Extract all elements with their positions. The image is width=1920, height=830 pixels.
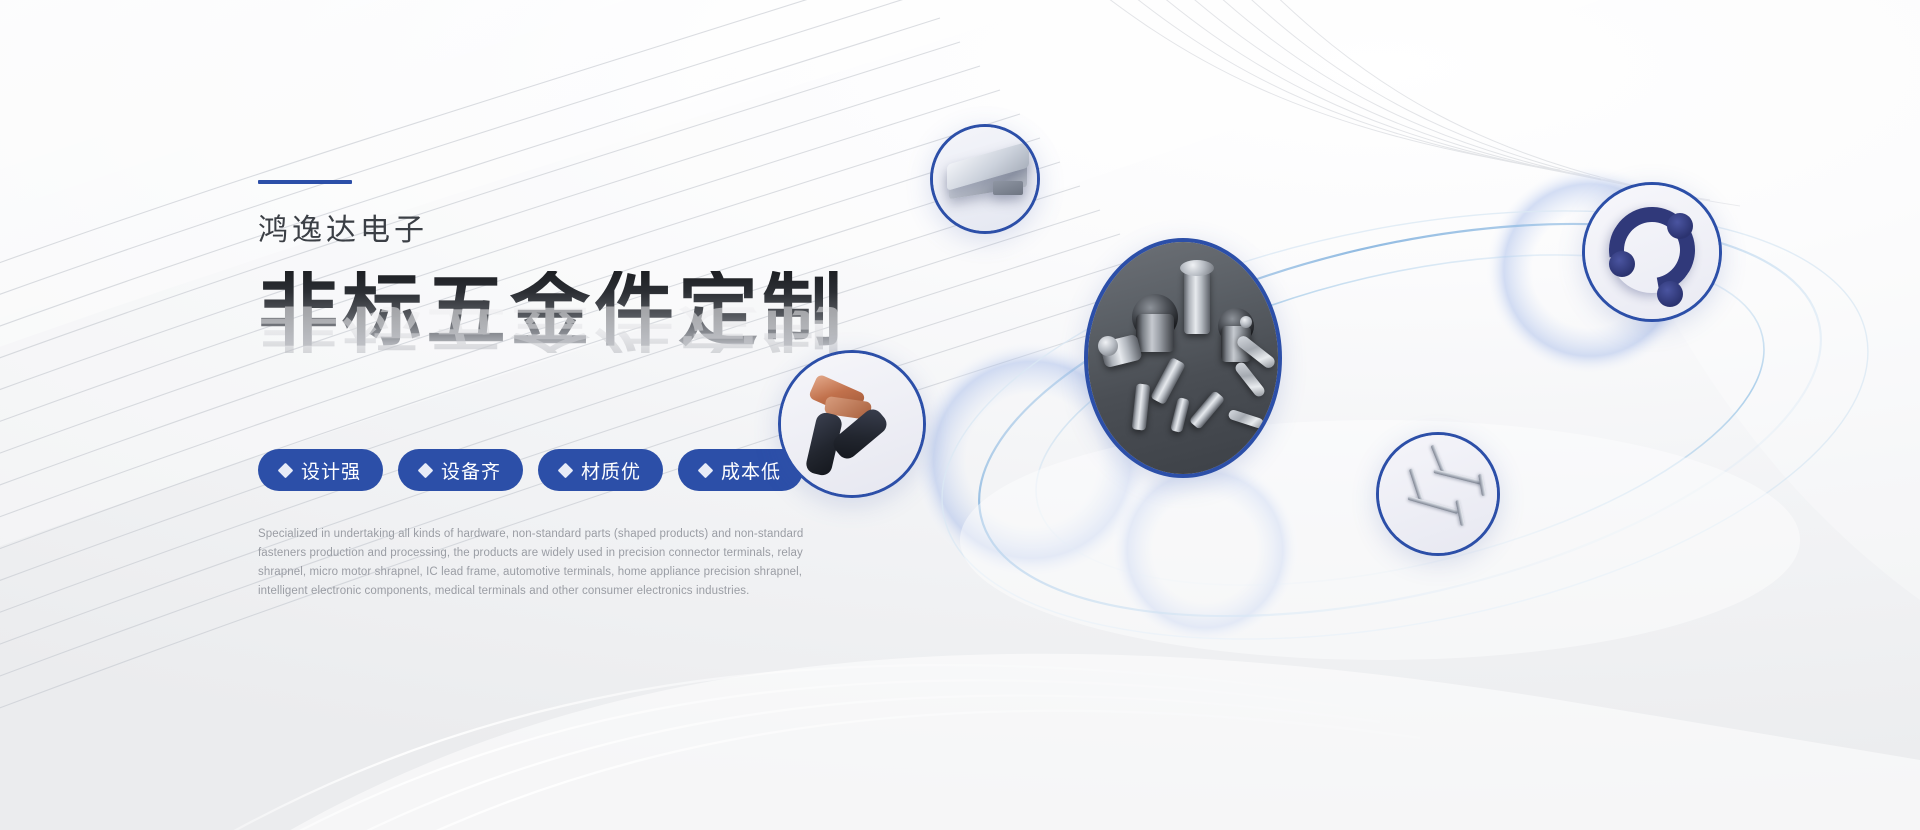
blue-retaining-ring-photo [1585,185,1719,319]
product-showcase [900,120,1900,720]
copper-battery-clamp-photo [781,353,923,495]
diamond-icon [418,462,434,478]
orbit-rings [900,120,1900,720]
page-title: 非标五金件定制 [258,271,998,351]
metal-enclosure-photo [933,127,1037,231]
product-node-battery-clamp[interactable] [778,350,926,498]
accent-divider [258,180,352,184]
product-node-retaining-ring[interactable] [1582,182,1722,322]
feature-pill-1[interactable]: 设备齐 [398,449,523,491]
diamond-icon [698,462,714,478]
diamond-icon [278,462,294,478]
feature-pill-2[interactable]: 材质优 [538,449,663,491]
hero-banner: 鸿逸达电子 非标五金件定制 非标五金件定制 设计强 设备齐 材质优 成本低 [0,0,1920,830]
bent-metal-pin-terminals-photo [1379,435,1497,553]
product-node-pin-terminals[interactable] [1376,432,1500,556]
brand-name: 鸿逸达电子 [258,214,998,247]
machined-metal-parts-photo [1088,242,1278,474]
description-paragraph: Specialized in undertaking all kinds of … [258,525,818,601]
product-node-machined-parts[interactable] [1084,238,1282,478]
feature-pill-label: 设备齐 [441,457,501,484]
diamond-icon [558,462,574,478]
feature-pill-label: 材质优 [581,457,641,484]
feature-pill-label: 设计强 [301,457,361,484]
feature-pill-label: 成本低 [721,457,781,484]
feature-pill-0[interactable]: 设计强 [258,449,383,491]
product-node-enclosure[interactable] [930,124,1040,234]
